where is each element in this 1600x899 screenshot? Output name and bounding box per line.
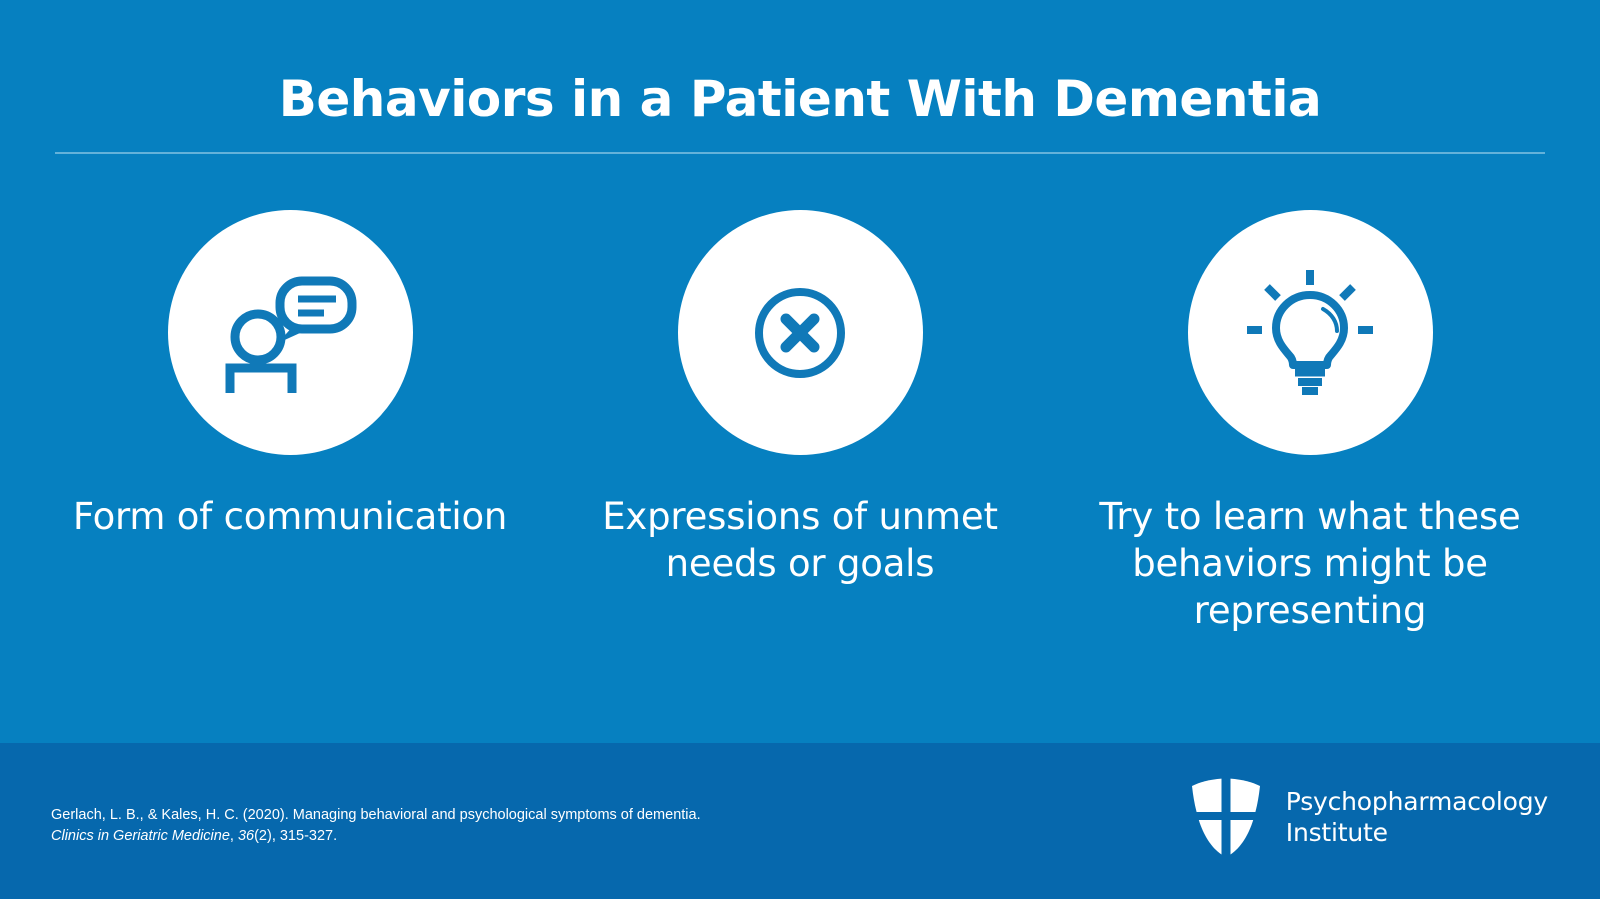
brand-name-line-1: Psychopharmacology [1286,787,1548,816]
citation-volume: 36 [238,828,254,844]
column-caption-3: Try to learn what these behaviors might … [1075,493,1545,634]
citation-separator: , [230,828,238,844]
content-column-2: Expressions of unmet needs or goals [565,210,1035,587]
citation-line-2: Clinics in Geriatric Medicine, 36(2), 31… [51,826,701,847]
brand-lockup: Psychopharmacology Institute [1188,775,1548,859]
content-column-3: Try to learn what these behaviors might … [1075,210,1545,634]
icon-circle-1 [168,210,413,455]
person-speech-bubble-icon [220,269,360,397]
lightbulb-icon [1245,268,1375,398]
content-columns: Form of communication Expressions of unm… [55,210,1545,634]
icon-circle-2 [678,210,923,455]
column-caption-2: Expressions of unmet needs or goals [565,493,1035,587]
icon-circle-3 [1188,210,1433,455]
citation-journal: Clinics in Geriatric Medicine [51,828,230,844]
brand-name-line-2: Institute [1286,818,1388,847]
circle-x-icon [745,278,855,388]
slide-root: Behaviors in a Patient With Dementia [0,0,1600,899]
column-caption-1: Form of communication [73,493,507,540]
citation-line-1: Gerlach, L. B., & Kales, H. C. (2020). M… [51,805,701,826]
content-column-1: Form of communication [55,210,525,540]
brand-name: Psychopharmacology Institute [1286,786,1548,848]
title-divider [55,152,1545,154]
footer-band: Gerlach, L. B., & Kales, H. C. (2020). M… [0,743,1600,899]
page-title: Behaviors in a Patient With Dementia [0,68,1600,130]
citation-pages: (2), 315-327. [254,828,337,844]
citation-text: Gerlach, L. B., & Kales, H. C. (2020). M… [51,805,701,847]
shield-logo-icon [1188,775,1264,859]
